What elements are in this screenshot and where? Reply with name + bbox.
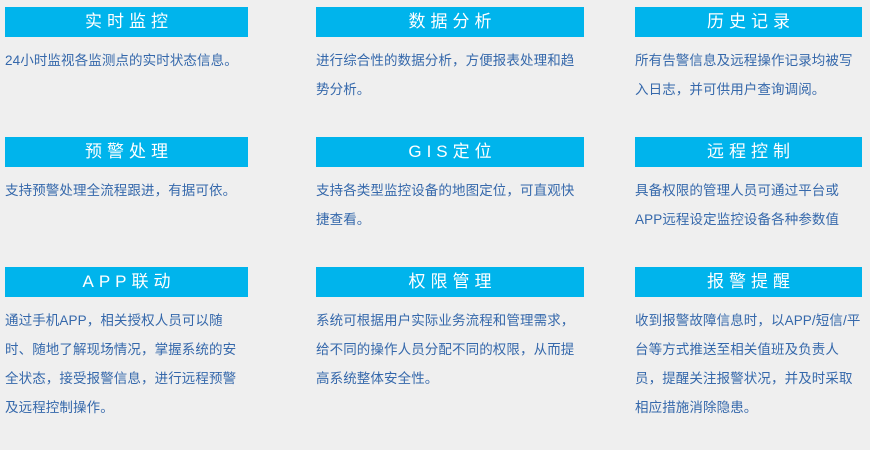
feature-card-early-warning-handling: 预警处理 支持预警处理全流程跟进，有据可依。 (0, 130, 308, 260)
feature-card-app-linkage: APP联动 通过手机APP，相关授权人员可以随时、随地了解现场情况，掌握系统的安… (0, 260, 308, 450)
card-body-app-linkage: 通过手机APP，相关授权人员可以随时、随地了解现场情况，掌握系统的安全状态，接受… (5, 306, 248, 422)
card-body-data-analysis: 进行综合性的数据分析，方便报表处理和趋势分析。 (316, 46, 584, 104)
feature-card-history-record: 历史记录 所有告警信息及远程操作记录均被写入日志，并可供用户查询调阅。 (618, 0, 870, 130)
feature-card-permission-management: 权限管理 系统可根据用户实际业务流程和管理需求，给不同的操作人员分配不同的权限，… (308, 260, 618, 450)
feature-card-data-analysis: 数据分析 进行综合性的数据分析，方便报表处理和趋势分析。 (308, 0, 618, 130)
feature-card-alarm-reminder: 报警提醒 收到报警故障信息时，以APP/短信/平台等方式推送至相关值班及负责人员… (618, 260, 870, 450)
feature-card-realtime-monitoring: 实时监控 24小时监视各监测点的实时状态信息。 (0, 0, 308, 130)
card-title-alarm-reminder: 报警提醒 (635, 267, 862, 297)
feature-card-gis-location: GIS定位 支持各类型监控设备的地图定位，可直观快捷查看。 (308, 130, 618, 260)
card-body-history-record: 所有告警信息及远程操作记录均被写入日志，并可供用户查询调阅。 (635, 46, 862, 104)
card-body-early-warning-handling: 支持预警处理全流程跟进，有据可依。 (5, 176, 248, 205)
card-title-history-record: 历史记录 (635, 7, 862, 37)
card-body-alarm-reminder: 收到报警故障信息时，以APP/短信/平台等方式推送至相关值班及负责人员，提醒关注… (635, 306, 862, 422)
feature-card-remote-control: 远程控制 具备权限的管理人员可通过平台或APP远程设定监控设备各种参数值 (618, 130, 870, 260)
card-body-realtime-monitoring: 24小时监视各监测点的实时状态信息。 (5, 46, 248, 75)
card-body-remote-control: 具备权限的管理人员可通过平台或APP远程设定监控设备各种参数值 (635, 176, 862, 234)
card-title-early-warning-handling: 预警处理 (5, 137, 248, 167)
card-body-permission-management: 系统可根据用户实际业务流程和管理需求，给不同的操作人员分配不同的权限，从而提高系… (316, 306, 584, 393)
card-title-app-linkage: APP联动 (5, 267, 248, 297)
card-body-gis-location: 支持各类型监控设备的地图定位，可直观快捷查看。 (316, 176, 584, 234)
card-title-data-analysis: 数据分析 (316, 7, 584, 37)
card-title-permission-management: 权限管理 (316, 267, 584, 297)
feature-grid: 实时监控 24小时监视各监测点的实时状态信息。 数据分析 进行综合性的数据分析，… (0, 0, 870, 450)
card-title-gis-location: GIS定位 (316, 137, 584, 167)
card-title-realtime-monitoring: 实时监控 (5, 7, 248, 37)
card-title-remote-control: 远程控制 (635, 137, 862, 167)
